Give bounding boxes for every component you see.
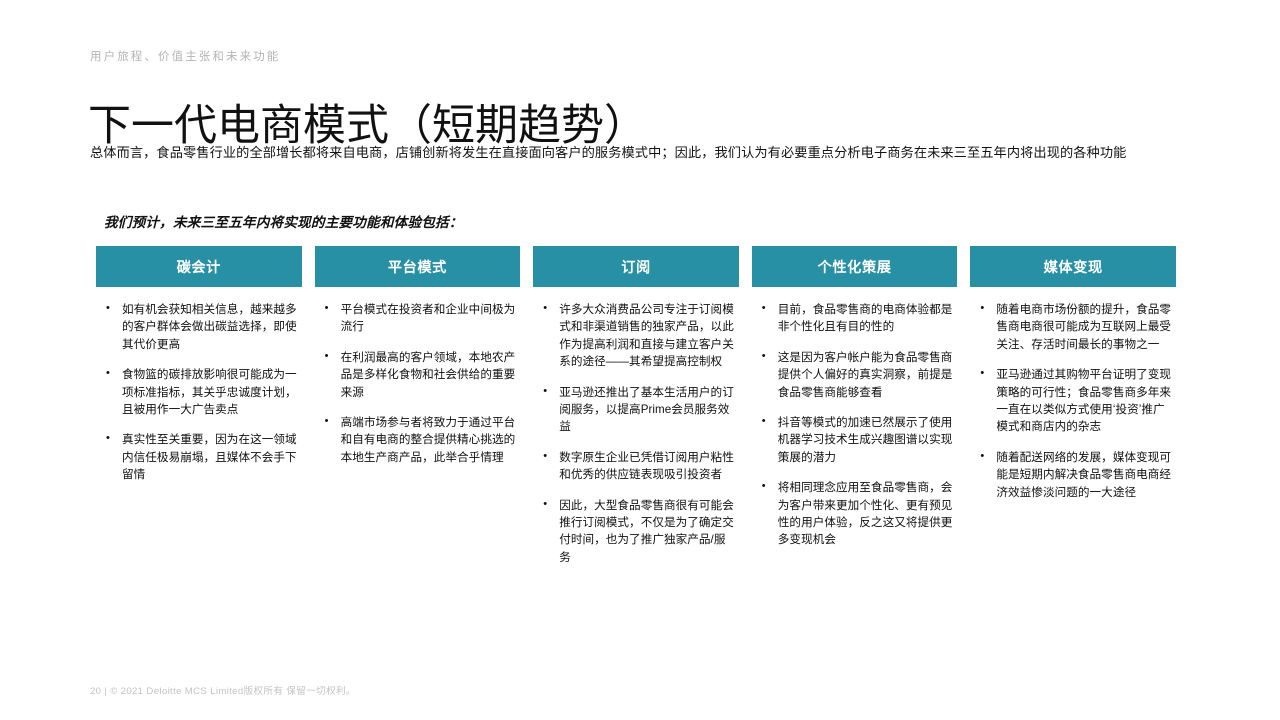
bullet-list: 平台模式在投资者和企业中间极为流行 在利润最高的客户领域，本地农产品是多样化食物… [319,301,519,466]
column-body-subscription: 许多大众消费品公司专注于订阅模式和非渠道销售的独家产品，以此作为提高利润和直接与… [533,287,739,566]
slide-eyebrow: 用户旅程、价值主张和未来功能 [90,48,280,64]
column-header-personalized-curation: 个性化策展 [752,246,958,287]
list-item: 随着配送网络的发展，媒体变现可能是短期内解决食品零售商电商经济效益惨淡问题的一大… [974,449,1174,501]
feature-column-personalized-curation: 个性化策展 目前，食品零售商的电商体验都是非个性化且有目的性的 这是因为客户帐户… [752,246,958,566]
list-item: 抖音等模式的加速已然展示了使用机器学习技术生成兴趣图谱以实现策展的潜力 [756,414,956,466]
list-item: 亚马逊通过其购物平台证明了变现策略的可行性；食品零售商多年来一直在以类似方式使用… [974,366,1174,436]
column-body-personalized-curation: 目前，食品零售商的电商体验都是非个性化且有目的性的 这是因为客户帐户能为食品零售… [752,287,958,549]
column-header-media-monetization: 媒体变现 [970,246,1176,287]
list-item: 这是因为客户帐户能为食品零售商提供个人偏好的真实洞察，前提是食品零售商能够查看 [756,349,956,401]
column-header-carbon-accounting: 碳会计 [96,246,302,287]
list-item: 平台模式在投资者和企业中间极为流行 [319,301,519,336]
bullet-list: 如有机会获知相关信息，越来越多的客户群体会做出碳益选择，即使其代价更高 食物篮的… [100,301,300,484]
list-item: 亚马逊还推出了基本生活用户的订阅服务，以提高Prime会员服务效益 [537,384,737,436]
slide-root: 用户旅程、价值主张和未来功能 下一代电商模式（短期趋势） 总体而言，食品零售行业… [0,0,1280,720]
list-item: 随着电商市场份额的提升，食品零售商电商很可能成为互联网上最受关注、存活时间最长的… [974,301,1174,353]
bullet-list: 许多大众消费品公司专注于订阅模式和非渠道销售的独家产品，以此作为提高利润和直接与… [537,301,737,566]
slide-lead-in: 我们预计，未来三至五年内将实现的主要功能和体验包括： [104,211,463,231]
bullet-list: 目前，食品零售商的电商体验都是非个性化且有目的性的 这是因为客户帐户能为食品零售… [756,301,956,549]
list-item: 在利润最高的客户领域，本地农产品是多样化食物和社会供给的重要来源 [319,349,519,401]
list-item: 因此，大型食品零售商很有可能会推行订阅模式，不仅是为了确定交付时间，也为了推广独… [537,497,737,567]
column-body-platform-model: 平台模式在投资者和企业中间极为流行 在利润最高的客户领域，本地农产品是多样化食物… [315,287,521,466]
list-item: 许多大众消费品公司专注于订阅模式和非渠道销售的独家产品，以此作为提高利润和直接与… [537,301,737,371]
column-header-subscription: 订阅 [533,246,739,287]
list-item: 目前，食品零售商的电商体验都是非个性化且有目的性的 [756,301,956,336]
feature-column-media-monetization: 媒体变现 随着电商市场份额的提升，食品零售商电商很可能成为互联网上最受关注、存活… [970,246,1176,566]
list-item: 如有机会获知相关信息，越来越多的客户群体会做出碳益选择，即使其代价更高 [100,301,300,353]
feature-column-platform-model: 平台模式 平台模式在投资者和企业中间极为流行 在利润最高的客户领域，本地农产品是… [315,246,521,566]
list-item: 数字原生企业已凭借订阅用户粘性和优秀的供应链表现吸引投资者 [537,449,737,484]
slide-footer: 20 | © 2021 Deloitte MCS Limited版权所有 保留一… [90,683,356,697]
bullet-list: 随着电商市场份额的提升，食品零售商电商很可能成为互联网上最受关注、存活时间最长的… [974,301,1174,501]
feature-column-subscription: 订阅 许多大众消费品公司专注于订阅模式和非渠道销售的独家产品，以此作为提高利润和… [533,246,739,566]
column-header-platform-model: 平台模式 [315,246,521,287]
feature-columns: 碳会计 如有机会获知相关信息，越来越多的客户群体会做出碳益选择，即使其代价更高 … [96,246,1176,566]
slide-deck-paragraph: 总体而言，食品零售行业的全部增长都将来自电商，店铺创新将发生在直接面向客户的服务… [90,144,1184,163]
list-item: 真实性至关重要，因为在这一领域内信任极易崩塌，且媒体不会手下留情 [100,431,300,483]
feature-column-carbon-accounting: 碳会计 如有机会获知相关信息，越来越多的客户群体会做出碳益选择，即使其代价更高 … [96,246,302,566]
list-item: 高端市场参与者将致力于通过平台和自有电商的整合提供精心挑选的本地生产商产品，此举… [319,414,519,466]
list-item: 将相同理念应用至食品零售商，会为客户带来更加个性化、更有预见性的用户体验，反之这… [756,479,956,549]
column-body-carbon-accounting: 如有机会获知相关信息，越来越多的客户群体会做出碳益选择，即使其代价更高 食物篮的… [96,287,302,484]
column-body-media-monetization: 随着电商市场份额的提升，食品零售商电商很可能成为互联网上最受关注、存活时间最长的… [970,287,1176,501]
list-item: 食物篮的碳排放影响很可能成为一项标准指标，其关乎忠诚度计划，且被用作一大广告卖点 [100,366,300,418]
